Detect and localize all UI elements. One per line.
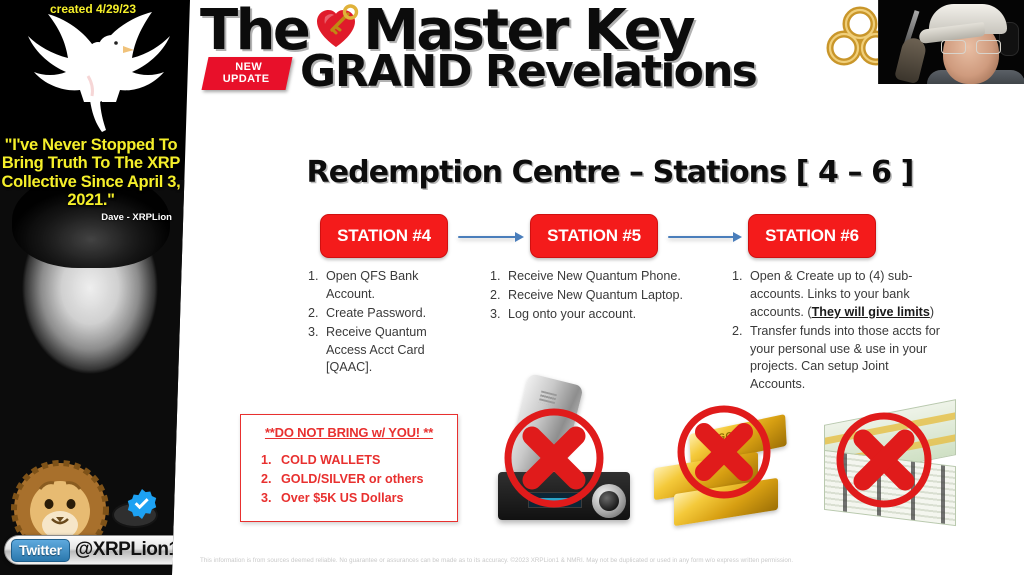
new-update-line1: NEW	[235, 62, 262, 73]
red-x-prohibited-icon	[492, 374, 642, 534]
twitter-pill-label: Twitter	[11, 539, 70, 562]
list-item: Create Password.	[322, 305, 448, 323]
red-x-prohibited-icon	[646, 398, 796, 534]
new-update-badge: NEW UPDATE	[201, 57, 292, 90]
webcam-glasses-icon	[941, 40, 1001, 54]
title-line-2: GRAND Revelations	[300, 46, 756, 97]
left-sidebar-panel: "I've Never Stopped To Bring Truth To Th…	[0, 0, 200, 575]
twitter-handle-text: @XRPLion1	[75, 539, 179, 561]
arrow-right-icon-2	[668, 234, 742, 240]
slide-canvas: "I've Never Stopped To Bring Truth To Th…	[0, 0, 1024, 575]
do-not-bring-box: **DO NOT BRING w/ YOU! ** COLD WALLETS G…	[240, 414, 458, 522]
verified-check-icon	[126, 488, 158, 520]
arrow-right-icon-1	[458, 234, 524, 240]
twitter-handle-bar[interactable]: Twitter @XRPLion1	[4, 535, 192, 565]
list-item: Open QFS Bank Account.	[322, 268, 448, 304]
station-4-list: Open QFS Bank Account. Create Password. …	[300, 268, 448, 378]
sidebar-quote: "I've Never Stopped To Bring Truth To Th…	[0, 136, 182, 210]
created-date-tag: created 4/29/23	[0, 2, 186, 16]
station-6-list: Open & Create up to (4) sub-accounts. Li…	[724, 268, 946, 395]
page-title: Redemption Centre – Stations [ 4 – 6 ]	[196, 155, 1024, 190]
sidebar-quote-attribution: Dave - XRPLion	[0, 212, 172, 223]
webcam-overlay[interactable]	[878, 0, 1024, 84]
red-x-prohibited-icon	[816, 404, 968, 534]
list-item-text-post: )	[930, 305, 934, 319]
stations-row: STATION #4 STATION #5 STATION #6	[196, 214, 1024, 260]
list-item: GOLD/SILVER or others	[275, 470, 449, 489]
title-word-revelations: Revelations	[471, 46, 756, 97]
cash-stacks-image	[816, 404, 968, 534]
station-box-5[interactable]: STATION #5	[530, 214, 658, 258]
list-item: Transfer funds into those accts for your…	[746, 323, 946, 395]
station-box-6[interactable]: STATION #6	[748, 214, 876, 258]
do-not-bring-title: **DO NOT BRING w/ YOU! **	[249, 425, 449, 440]
list-item: Receive New Quantum Phone.	[504, 268, 708, 286]
heart-with-key-icon	[312, 4, 360, 52]
dove-icon	[22, 6, 174, 134]
list-item: Receive New Quantum Laptop.	[504, 287, 708, 305]
gold-bars-image: GOLD	[646, 398, 796, 534]
station-5-list: Receive New Quantum Phone. Receive New Q…	[482, 268, 708, 325]
station-box-4[interactable]: STATION #4	[320, 214, 448, 258]
new-update-line2: UPDATE	[222, 74, 269, 85]
list-item: Open & Create up to (4) sub-accounts. Li…	[746, 268, 946, 322]
list-item: Log onto your account.	[504, 306, 708, 324]
list-item: Over $5K US Dollars	[275, 489, 449, 508]
do-not-bring-list: COLD WALLETS GOLD/SILVER or others Over …	[249, 451, 449, 508]
title-word-grand: GRAND	[300, 46, 471, 97]
title-word-the: The	[200, 0, 308, 63]
list-item-emphasis: They will give limits	[812, 305, 930, 319]
footer-disclaimer: This information is from sources deemed …	[200, 557, 1020, 564]
list-item: Receive Quantum Access Acct Card [QAAC].	[322, 324, 448, 378]
list-item: COLD WALLETS	[275, 451, 449, 470]
cold-wallet-image	[492, 374, 642, 534]
